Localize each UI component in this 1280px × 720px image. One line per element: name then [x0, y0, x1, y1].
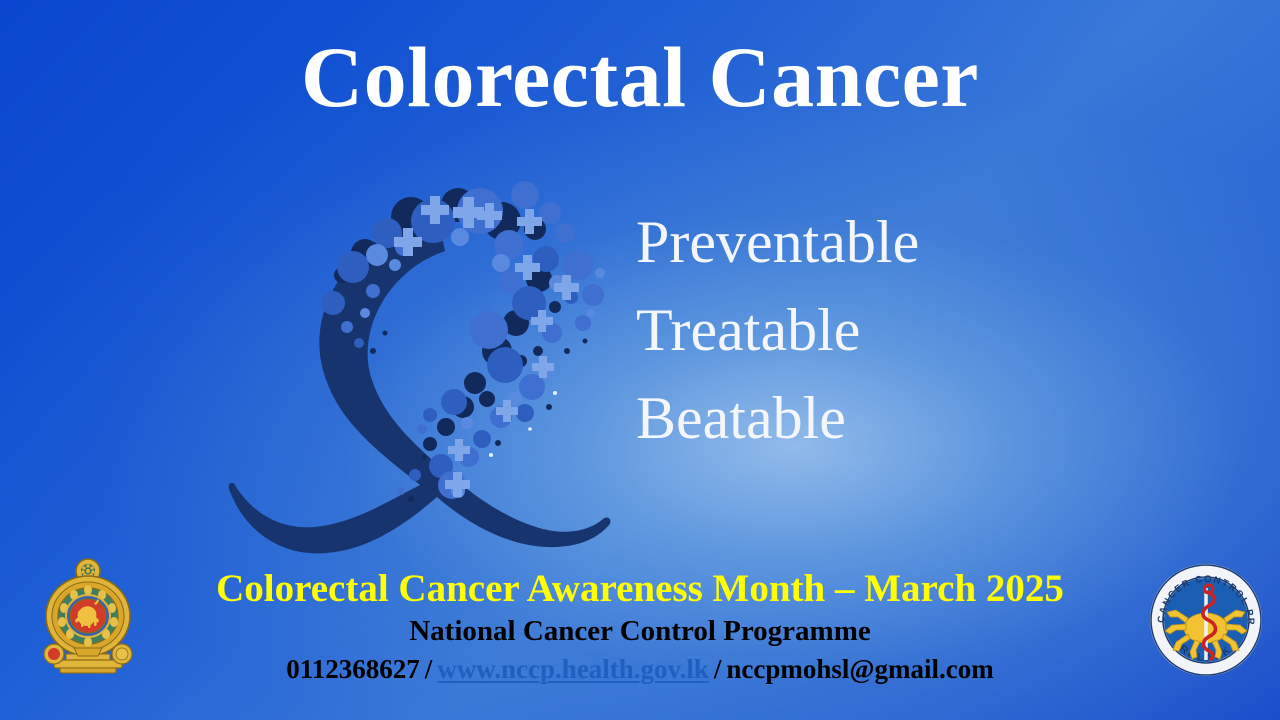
- tagline-line-1: Preventable: [636, 198, 1156, 286]
- contact-separator-1: /: [420, 654, 438, 684]
- awareness-ribbon-icon: [205, 155, 635, 565]
- poster-canvas: Colorectal Cancer: [0, 0, 1280, 720]
- tagline-block: Preventable Treatable Beatable: [636, 198, 1156, 462]
- email-address: nccpmohsl@gmail.com: [726, 654, 993, 684]
- ribbon-bubble-cluster: [321, 181, 605, 502]
- tagline-line-2: Treatable: [636, 286, 1156, 374]
- tagline-line-3: Beatable: [636, 374, 1156, 462]
- sri-lanka-government-emblem-icon: [36, 558, 140, 678]
- website-link[interactable]: www.nccp.health.gov.lk: [437, 654, 709, 684]
- contact-separator-2: /: [709, 654, 727, 684]
- page-title: Colorectal Cancer: [0, 32, 1280, 122]
- organization-name: National Cancer Control Programme: [0, 612, 1280, 650]
- awareness-month-heading: Colorectal Cancer Awareness Month – Marc…: [0, 566, 1280, 612]
- footer-block: Colorectal Cancer Awareness Month – Marc…: [0, 566, 1280, 688]
- contact-line: 0112368627/www.nccp.health.gov.lk/nccpmo…: [0, 650, 1280, 688]
- phone-number: 0112368627: [286, 654, 420, 684]
- nccp-sri-lanka-logo-icon: NATIONAL CANCER CONTROL PROGRAMME SRI LA…: [1148, 562, 1264, 678]
